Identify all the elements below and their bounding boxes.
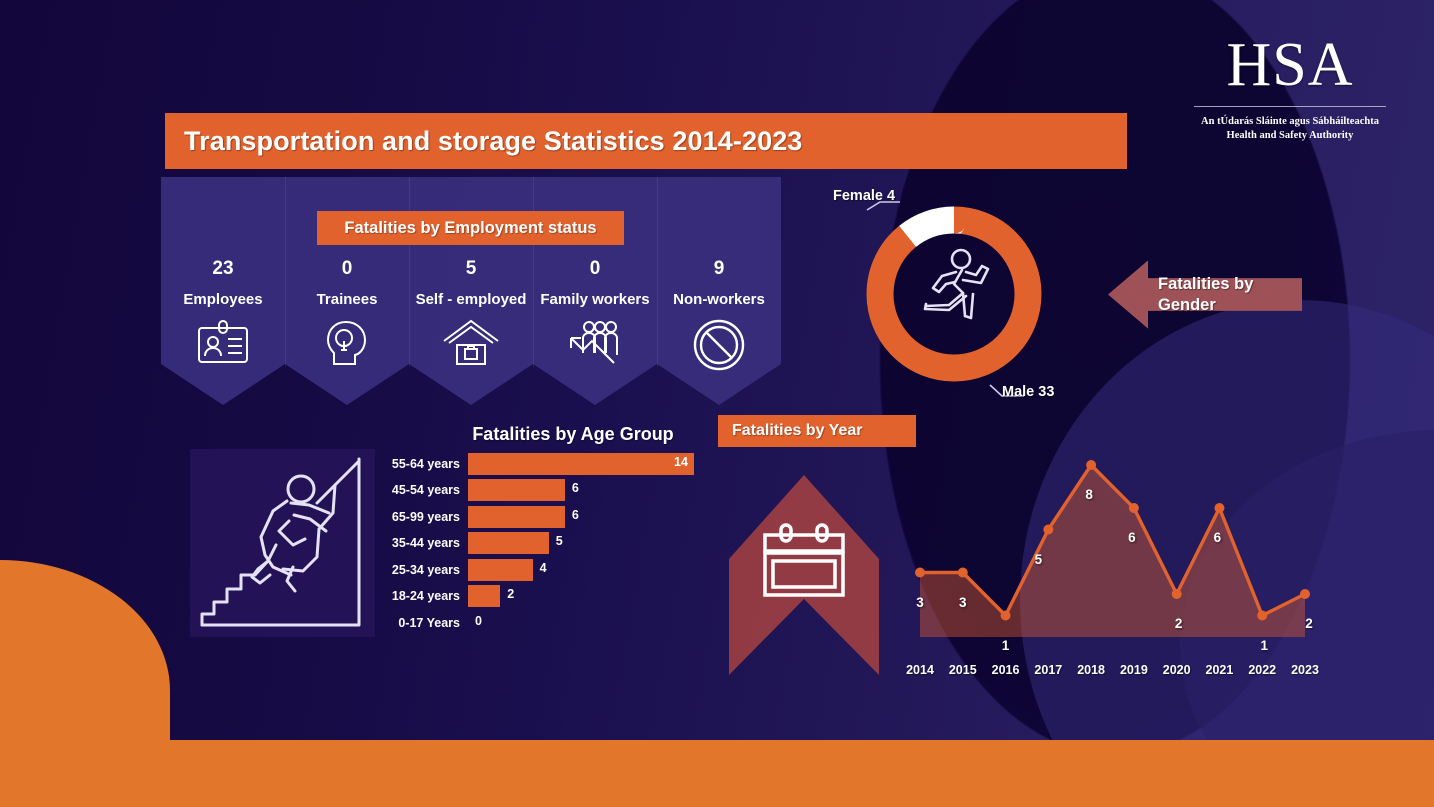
year-axis-label: 2021 <box>1206 663 1234 677</box>
age-bar-zone: 5 <box>468 532 696 554</box>
employment-label: Family workers <box>540 291 649 308</box>
year-axis-labels: 2014201520162017201820192020202120222023 <box>898 663 1323 685</box>
hsa-logo: HSA An tÚdarás Sláinte agus Sábháilteach… <box>1190 34 1390 143</box>
year-data-label: 3 <box>959 595 967 610</box>
year-data-point <box>1214 503 1224 513</box>
age-chart-title: Fatalities by Age Group <box>450 424 696 445</box>
employment-banner: Fatalities by Employment status <box>317 211 624 245</box>
bottom-orange-band <box>0 740 1434 807</box>
employment-label: Trainees <box>317 291 378 308</box>
age-bar-value: 2 <box>507 587 514 601</box>
calendar-chevron <box>729 475 879 675</box>
people-trend-icon <box>567 319 623 367</box>
year-line-chart: 2014201520162017201820192020202120222023… <box>898 445 1323 690</box>
employment-value: 9 <box>714 259 725 278</box>
year-data-label: 1 <box>1260 638 1268 653</box>
age-bar-category: 55-64 years <box>380 457 468 471</box>
page-title: Transportation and storage Statistics 20… <box>184 126 802 157</box>
gender-callout-text: Fatalities by Gender <box>1158 274 1253 315</box>
age-bar-value: 0 <box>475 614 482 628</box>
age-bar-row: 55-64 years14 <box>380 452 696 475</box>
logo-english-name: Health and Safety Authority <box>1190 129 1390 143</box>
age-bar <box>468 506 565 528</box>
age-bar-row: 35-44 years5 <box>380 532 696 555</box>
age-bar <box>468 479 565 501</box>
year-data-point <box>915 568 925 578</box>
age-bar <box>468 532 549 554</box>
year-axis-label: 2015 <box>949 663 977 677</box>
year-banner: Fatalities by Year <box>718 415 916 447</box>
age-bar-category: 45-54 years <box>380 483 468 497</box>
year-axis-label: 2016 <box>992 663 1020 677</box>
age-bar-row: 25-34 years4 <box>380 558 696 581</box>
year-axis-label: 2023 <box>1291 663 1319 677</box>
year-data-point <box>958 568 968 578</box>
bottom-orange-curve-secondary <box>0 560 170 740</box>
age-bar-row: 45-54 years6 <box>380 479 696 502</box>
year-data-point <box>1172 589 1182 599</box>
year-data-point <box>1043 525 1053 535</box>
calendar-icon <box>759 523 849 599</box>
year-banner-label: Fatalities by Year <box>732 422 862 440</box>
age-bar-zone: 2 <box>468 585 696 607</box>
age-bar-zone: 0 <box>468 612 696 634</box>
employment-value: 23 <box>212 259 233 278</box>
year-axis-label: 2014 <box>906 663 934 677</box>
year-data-point <box>1001 611 1011 621</box>
year-data-label: 5 <box>1035 552 1043 567</box>
age-bar-value: 6 <box>572 481 579 495</box>
age-bar-row: 65-99 years6 <box>380 505 696 528</box>
age-bar-category: 18-24 years <box>380 589 468 603</box>
donut-female-label: Female 4 <box>833 188 895 204</box>
age-bar-category: 0-17 Years <box>380 616 468 630</box>
age-bar-zone: 4 <box>468 559 696 581</box>
year-data-label: 6 <box>1128 530 1136 545</box>
employment-item-employees: 23 Employees <box>161 177 285 405</box>
donut-slice-male <box>880 220 1028 368</box>
age-bar-category: 35-44 years <box>380 536 468 550</box>
employment-label: Non-workers <box>673 291 765 308</box>
age-bar-row: 18-24 years2 <box>380 585 696 608</box>
year-data-label: 2 <box>1175 616 1183 631</box>
infographic-canvas: HSA An tÚdarás Sláinte agus Sábháilteach… <box>0 0 1434 807</box>
year-data-label: 3 <box>916 595 924 610</box>
employment-label: Employees <box>183 291 262 308</box>
age-bar-value: 5 <box>556 534 563 548</box>
age-bar-value: 14 <box>674 455 688 469</box>
employment-value: 5 <box>466 259 477 278</box>
age-bar-category: 65-99 years <box>380 510 468 524</box>
employment-status-section: 23 Employees 0 Trainees <box>161 177 781 405</box>
year-axis-label: 2018 <box>1077 663 1105 677</box>
employment-value: 0 <box>342 259 353 278</box>
year-axis-label: 2019 <box>1120 663 1148 677</box>
year-data-label: 8 <box>1085 487 1093 502</box>
employment-label: Self - employed <box>416 291 527 308</box>
home-briefcase-icon <box>442 319 500 367</box>
year-data-label: 1 <box>1002 638 1010 653</box>
donut-male-label: Male 33 <box>1002 384 1054 400</box>
running-person-icon <box>925 250 988 318</box>
title-bar: Transportation and storage Statistics 20… <box>165 113 1127 169</box>
year-data-point <box>1257 611 1267 621</box>
age-bar <box>468 453 694 475</box>
year-data-point <box>1086 460 1096 470</box>
age-bar-row: 0-17 Years0 <box>380 611 696 634</box>
age-bar-zone: 14 <box>468 453 696 475</box>
age-bar <box>468 559 533 581</box>
year-axis-label: 2017 <box>1034 663 1062 677</box>
age-bar <box>468 585 500 607</box>
year-data-label: 2 <box>1305 616 1313 631</box>
employment-value: 0 <box>590 259 601 278</box>
climber-panel <box>190 449 375 637</box>
year-data-label: 6 <box>1214 530 1222 545</box>
age-bar-value: 6 <box>572 508 579 522</box>
gender-donut-chart <box>862 202 1046 386</box>
prohibition-icon <box>693 319 745 371</box>
gender-callout-arrow: Fatalities by Gender <box>1108 259 1302 330</box>
age-bar-zone: 6 <box>468 506 696 528</box>
age-bar-zone: 6 <box>468 479 696 501</box>
head-lightbulb-icon <box>325 319 369 367</box>
logo-wordmark: HSA <box>1190 34 1390 96</box>
age-bar-category: 25-34 years <box>380 563 468 577</box>
gender-callout-line1: Fatalities by <box>1158 274 1253 295</box>
year-axis-label: 2022 <box>1248 663 1276 677</box>
employment-banner-label: Fatalities by Employment status <box>344 219 596 238</box>
age-bar-value: 4 <box>540 561 547 575</box>
year-axis-label: 2020 <box>1163 663 1191 677</box>
logo-divider <box>1194 106 1386 107</box>
id-card-icon <box>196 319 250 365</box>
climbing-person-icon <box>190 449 375 637</box>
year-data-point <box>1300 589 1310 599</box>
year-data-point <box>1129 503 1139 513</box>
logo-irish-name: An tÚdarás Sláinte agus Sábháilteachta <box>1190 115 1390 129</box>
employment-item-non-workers: 9 Non-workers <box>657 177 781 405</box>
year-area-fill <box>920 465 1305 637</box>
age-group-bar-chart: Fatalities by Age Group 55-64 years1445-… <box>380 424 696 639</box>
gender-callout-line2: Gender <box>1158 295 1253 316</box>
